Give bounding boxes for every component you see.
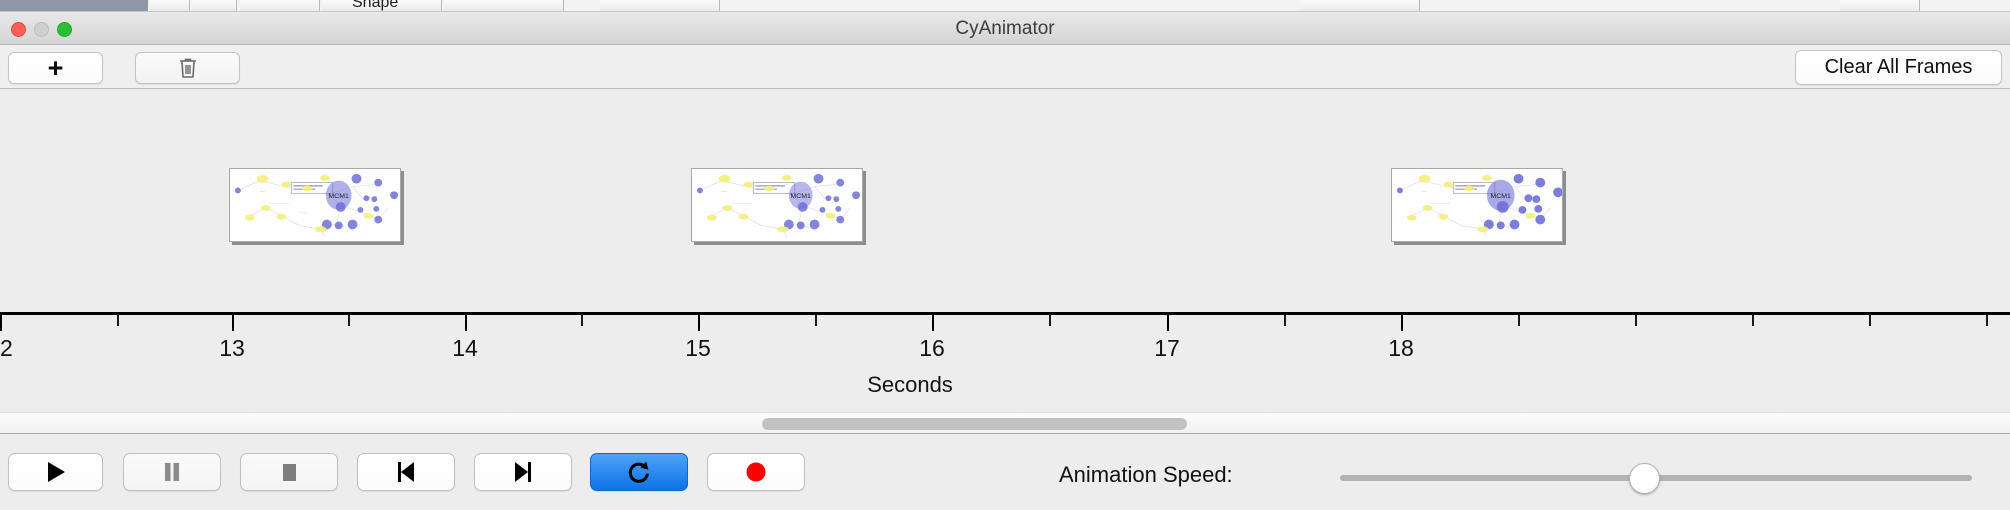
timeline-tick [815, 315, 817, 326]
timeline-tick [1284, 315, 1286, 326]
step-back-button[interactable] [357, 453, 455, 491]
frame-thumbnail-3[interactable]: ...... .. .. .. ... ... .... MCM1 [1391, 168, 1563, 242]
timeline-tick [348, 315, 350, 326]
plus-icon: + [48, 55, 64, 82]
svg-text:.. .. .. ... ... ....: .. .. .. ... ... .... [270, 201, 290, 205]
skip-forward-icon [512, 460, 534, 484]
timeline-tick [465, 315, 467, 331]
background-tab [150, 0, 190, 12]
svg-text:......: ...... [722, 188, 728, 192]
timeline-tick-label: 12 [0, 335, 13, 362]
network-thumbnail-graphic: ...... .. .. .. ... ... .... MCM1 [692, 169, 862, 241]
frame-thumbnail-1[interactable]: ...... .. .. .. ... ... .... ... ..... M… [229, 168, 401, 242]
timeline-tick [232, 315, 234, 331]
pause-button[interactable] [123, 453, 221, 491]
record-button[interactable] [707, 453, 805, 491]
loop-icon [626, 459, 652, 485]
timeline-tick [1518, 315, 1520, 326]
network-thumbnail-graphic: ...... .. .. .. ... ... .... ... ..... M… [230, 169, 400, 241]
cyanimator-window: Shape CyAnimator + Clear All Frames [0, 0, 2010, 510]
timeline-axis [0, 312, 2010, 315]
timeline-tick-label: 17 [1154, 335, 1180, 362]
play-button[interactable] [8, 453, 103, 491]
window-titlebar: CyAnimator [0, 12, 2010, 45]
timeline-tick [932, 315, 934, 331]
trash-icon [178, 57, 198, 79]
frame-center-node-label: MCM1 [329, 193, 350, 200]
playback-control-bar: Animation Speed: [0, 435, 2010, 510]
timeline-tick-label: 15 [685, 335, 711, 362]
timeline-tick-label: 14 [452, 335, 478, 362]
background-tab [600, 0, 720, 12]
timeline-tick [1049, 315, 1051, 326]
timeline-tick [1401, 315, 1403, 331]
timeline-panel[interactable]: ...... .. .. .. ... ... .... ... ..... M… [0, 90, 2010, 412]
timeline-tick [1986, 315, 1988, 326]
stop-icon [279, 460, 299, 484]
timeline-scrollbar-thumb[interactable] [762, 418, 1187, 430]
background-dark-block [0, 0, 148, 12]
animation-speed-slider-knob[interactable] [1629, 463, 1660, 494]
record-icon [744, 460, 768, 484]
frame-center-node-label: MCM1 [791, 193, 812, 200]
skip-back-icon [395, 460, 417, 484]
add-frame-button[interactable]: + [8, 52, 103, 84]
timeline-tick-label: 16 [919, 335, 945, 362]
clear-all-frames-label: Clear All Frames [1825, 56, 1973, 79]
timeline-tick [581, 315, 583, 326]
timeline-tick [1167, 315, 1169, 331]
timeline-tick [1752, 315, 1754, 326]
background-tab [1840, 0, 1920, 12]
timeline-tick [1869, 315, 1871, 326]
timeline-tick [117, 315, 119, 326]
step-forward-button[interactable] [474, 453, 572, 491]
svg-text:... .....: ... ..... [299, 210, 307, 214]
frame-thumbnail-2[interactable]: ...... .. .. .. ... ... .... MCM1 [691, 168, 863, 242]
svg-text:.. .. .. ... ... ....: .. .. .. ... ... .... [1432, 201, 1452, 205]
timeline-tick-label: 13 [219, 335, 245, 362]
loop-button[interactable] [590, 453, 688, 491]
timeline-tick-label: 18 [1388, 335, 1414, 362]
svg-text:.. .. .. ... ... ....: .. .. .. ... ... .... [732, 201, 752, 205]
pause-icon [162, 460, 182, 484]
background-tab [444, 0, 564, 12]
delete-frame-button[interactable] [135, 52, 240, 84]
window-title: CyAnimator [0, 12, 2010, 45]
background-app-strip: Shape [0, 0, 2010, 12]
clear-all-frames-button[interactable]: Clear All Frames [1795, 50, 2002, 85]
background-tab [240, 0, 320, 12]
svg-text:......: ...... [260, 188, 266, 192]
timeline-tick [0, 315, 2, 331]
frame-center-node-label: MCM1 [1491, 193, 1512, 200]
timeline-scrollbar[interactable] [0, 412, 2010, 434]
frame-toolbar: + Clear All Frames [0, 45, 2010, 89]
background-tab [192, 0, 237, 12]
timeline-tick [1635, 315, 1637, 326]
background-tab [1300, 0, 1420, 12]
timeline-axis-caption: Seconds [0, 372, 2010, 398]
animation-speed-label: Animation Speed: [1059, 462, 1233, 488]
network-thumbnail-graphic: ...... .. .. .. ... ... .... MCM1 [1392, 169, 1562, 241]
background-partial-label: Shape [352, 0, 398, 12]
timeline-tick [698, 315, 700, 331]
play-icon [45, 460, 67, 484]
stop-button[interactable] [240, 453, 338, 491]
svg-text:......: ...... [1422, 188, 1428, 192]
